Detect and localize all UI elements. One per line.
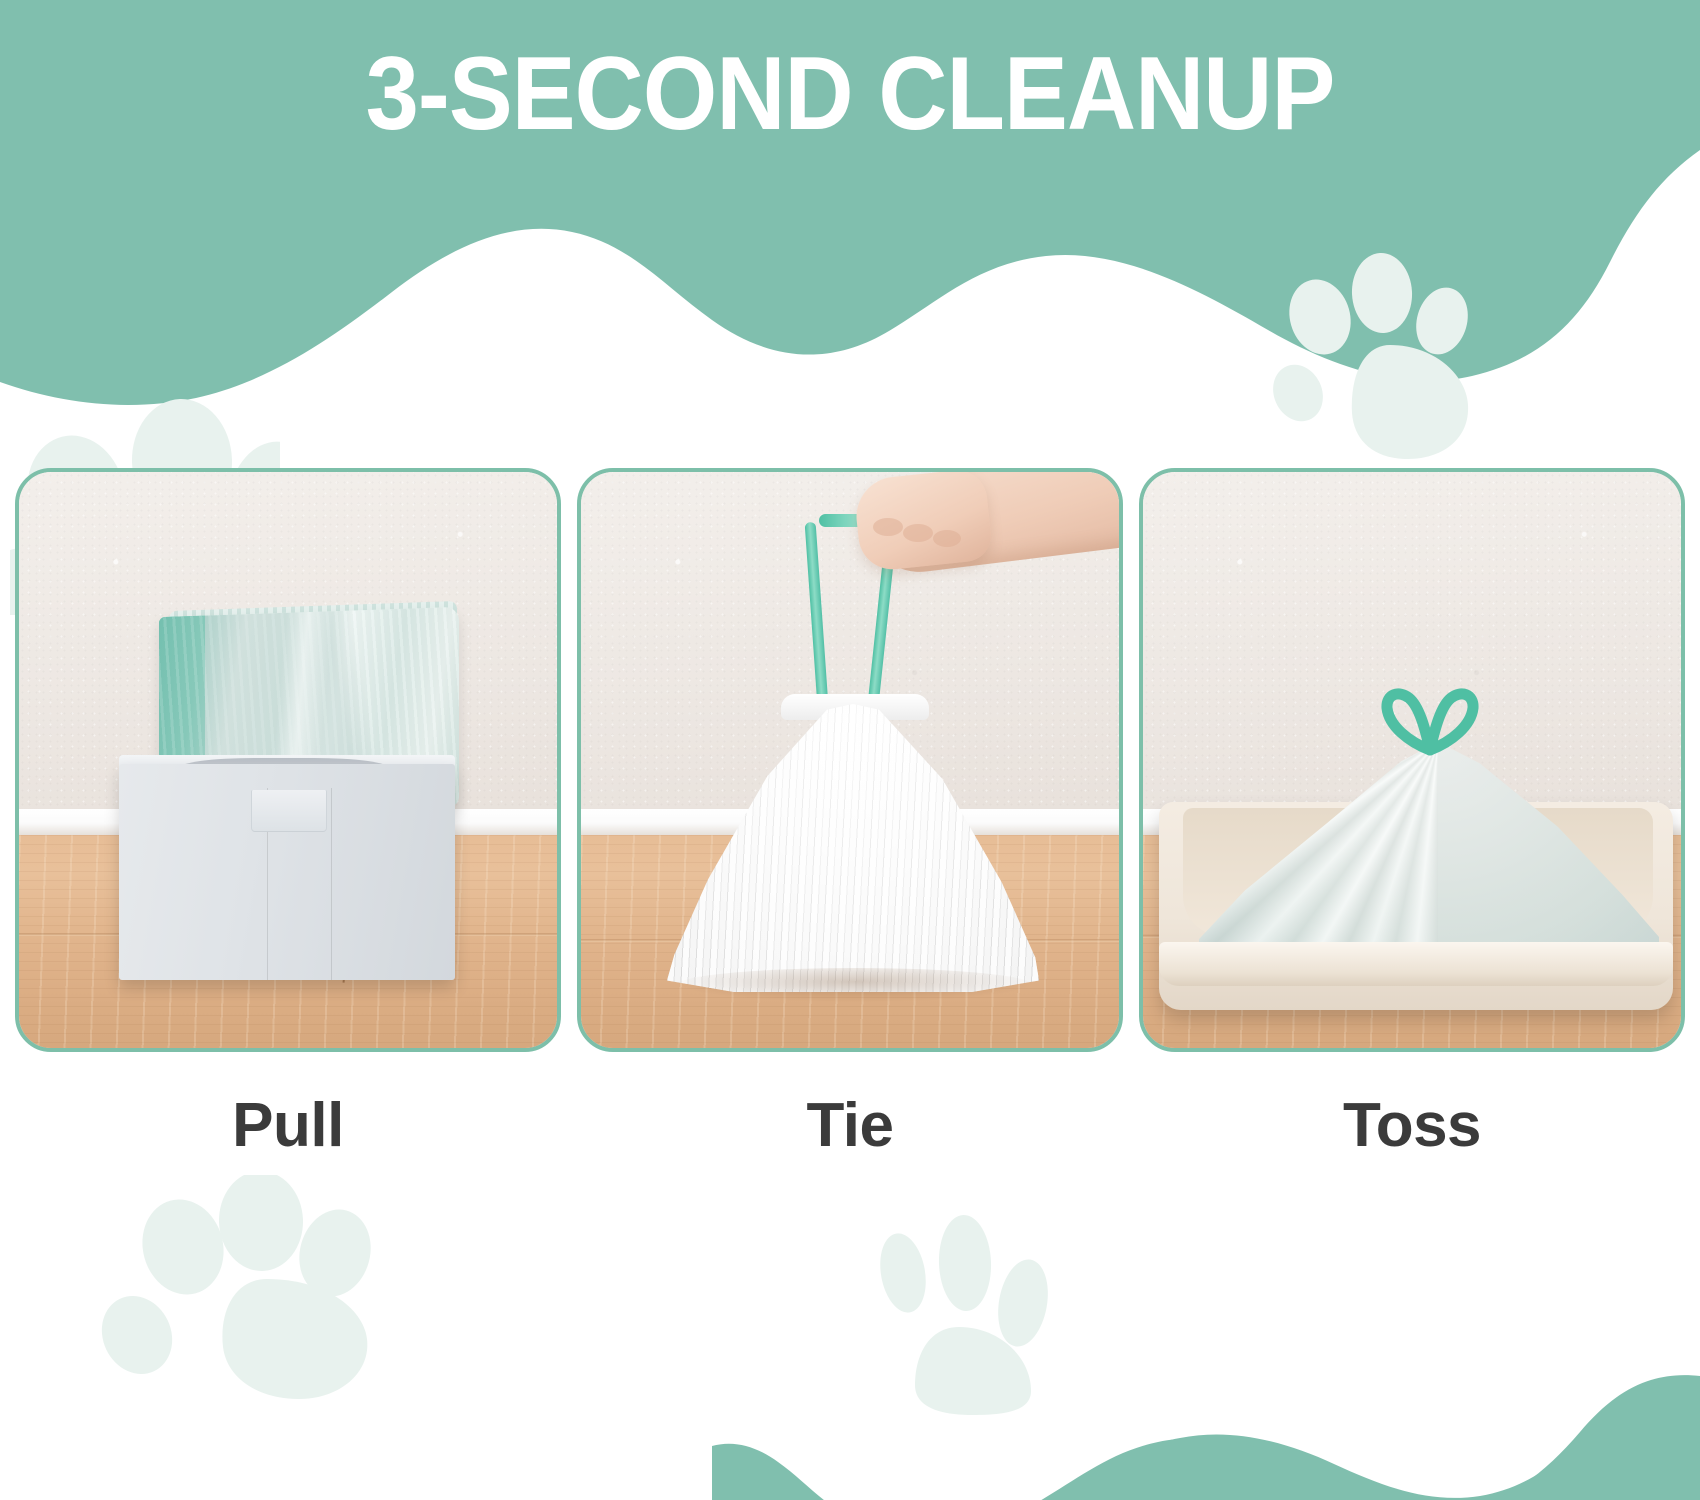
- step-label-pull: Pull: [15, 1090, 561, 1161]
- litter-tray-front-rim: [1159, 942, 1673, 986]
- drawstring-bow-icon: [1355, 684, 1505, 756]
- page-title: 3-SECOND CLEANUP: [68, 38, 1632, 150]
- bag-shadow: [677, 968, 1033, 1002]
- step-tie: Tie: [577, 468, 1123, 1161]
- step-pull: Pull: [15, 468, 561, 1161]
- knuckle: [873, 518, 903, 536]
- box-pull-tab: [251, 790, 327, 832]
- step-toss: Toss: [1139, 468, 1685, 1161]
- steps-row: Pull Tie: [0, 468, 1700, 1161]
- knuckle: [933, 530, 961, 547]
- step-label-tie: Tie: [577, 1090, 1123, 1161]
- paw-print-icon: [1262, 245, 1502, 465]
- photo-toss-tied-liner-in-tray[interactable]: [1139, 468, 1685, 1052]
- step-label-toss: Toss: [1139, 1090, 1685, 1161]
- photo-pull-bag-from-box[interactable]: [15, 468, 561, 1052]
- photo-tie-bag-closed[interactable]: [577, 468, 1123, 1052]
- knuckle: [903, 524, 933, 542]
- hand-fist: [853, 468, 994, 573]
- box-seam: [331, 788, 332, 980]
- footer-banner: [0, 1240, 1700, 1500]
- footer-wave-shape: [0, 1240, 1700, 1500]
